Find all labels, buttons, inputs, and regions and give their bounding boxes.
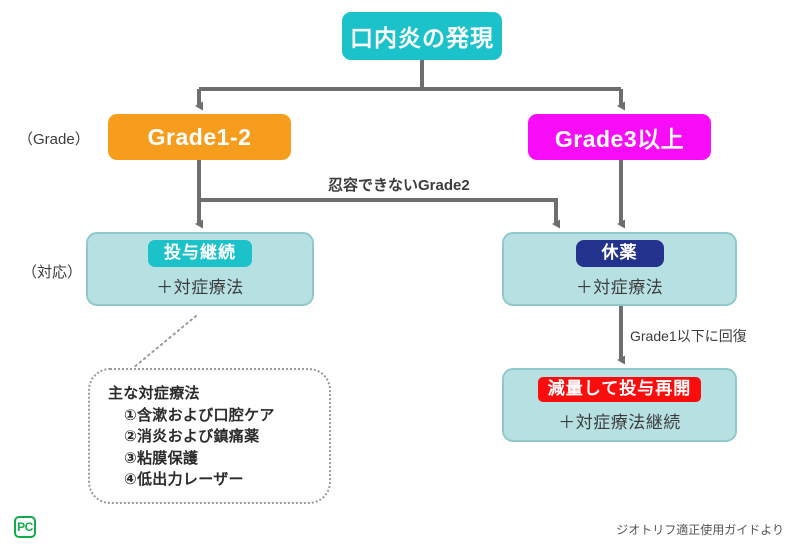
pc-logo-icon: PC [14,516,36,538]
edge-continue-to-callout [133,316,196,368]
node-suspend-treatment[interactable]: 休薬 ＋対症療法 [502,232,737,306]
node-suspend-sub: ＋対症療法 [576,273,664,298]
callout-item: ①含漱および口腔ケア [124,405,329,426]
callout-item: ②消炎および鎮痛薬 [124,426,329,447]
edge-grade12-to-suspend [199,200,556,224]
callout-symptomatic-treatments: 主な対症療法 ①含漱および口腔ケア ②消炎および鎮痛薬 ③粘膜保護 ④低出力レー… [88,368,331,504]
node-onset-label: 口内炎の発現 [350,19,494,53]
node-continue-sub: ＋対症療法 [156,273,244,298]
node-grade3-plus-label: Grade3以上 [555,120,684,154]
callout-title: 主な対症療法 [108,382,329,403]
node-grade1-2-label: Grade1-2 [148,124,252,151]
edge-label-intolerable-grade2: 忍容できないGrade2 [328,174,470,195]
node-restart-sub: ＋対症療法継続 [558,408,681,433]
node-continue-treatment[interactable]: 投与継続 ＋対症療法 [86,232,314,306]
node-grade1-2[interactable]: Grade1-2 [108,114,291,160]
callout-item: ③粘膜保護 [124,448,329,469]
flowchart-canvas: （Grade） （対応） 口内炎の発現 Grade1-2 Grade3以上 投与… [0,0,800,550]
node-restart-pill: 減量して投与再開 [538,377,702,402]
source-note: ジオトリフ適正使用ガイドより [616,521,784,538]
row-label-grade: （Grade） [18,128,90,149]
node-onset[interactable]: 口内炎の発現 [342,12,502,60]
node-suspend-pill: 休薬 [576,240,664,267]
node-continue-pill: 投与継続 [148,240,252,267]
edge-label-recovered-to-grade1: Grade1以下に回復 [630,326,747,346]
row-label-response: （対応） [22,261,82,282]
callout-item: ④低出力レーザー [124,469,329,490]
node-grade3-plus[interactable]: Grade3以上 [528,114,711,160]
node-restart-treatment[interactable]: 減量して投与再開 ＋対症療法継続 [502,368,737,442]
